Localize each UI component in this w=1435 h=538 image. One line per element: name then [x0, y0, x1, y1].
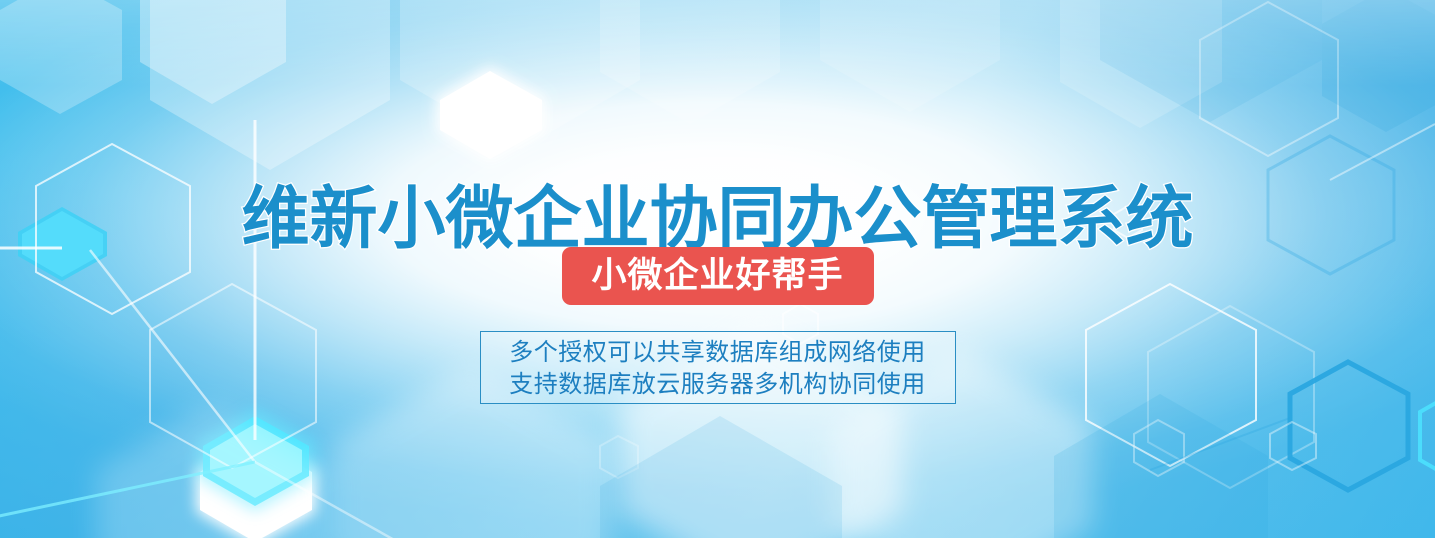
feature-line-2: 支持数据库放云服务器多机构协同使用	[509, 368, 926, 400]
promo-banner: 维新小微企业协同办公管理系统 小微企业好帮手 多个授权可以共享数据库组成网络使用…	[0, 0, 1435, 538]
tagline-badge: 小微企业好帮手	[561, 247, 873, 305]
banner-content: 维新小微企业协同办公管理系统 小微企业好帮手 多个授权可以共享数据库组成网络使用…	[0, 0, 1435, 538]
feature-list-box: 多个授权可以共享数据库组成网络使用 支持数据库放云服务器多机构协同使用	[480, 331, 956, 404]
tagline-badge-label: 小微企业好帮手	[591, 259, 843, 294]
feature-line-1: 多个授权可以共享数据库组成网络使用	[509, 336, 926, 368]
